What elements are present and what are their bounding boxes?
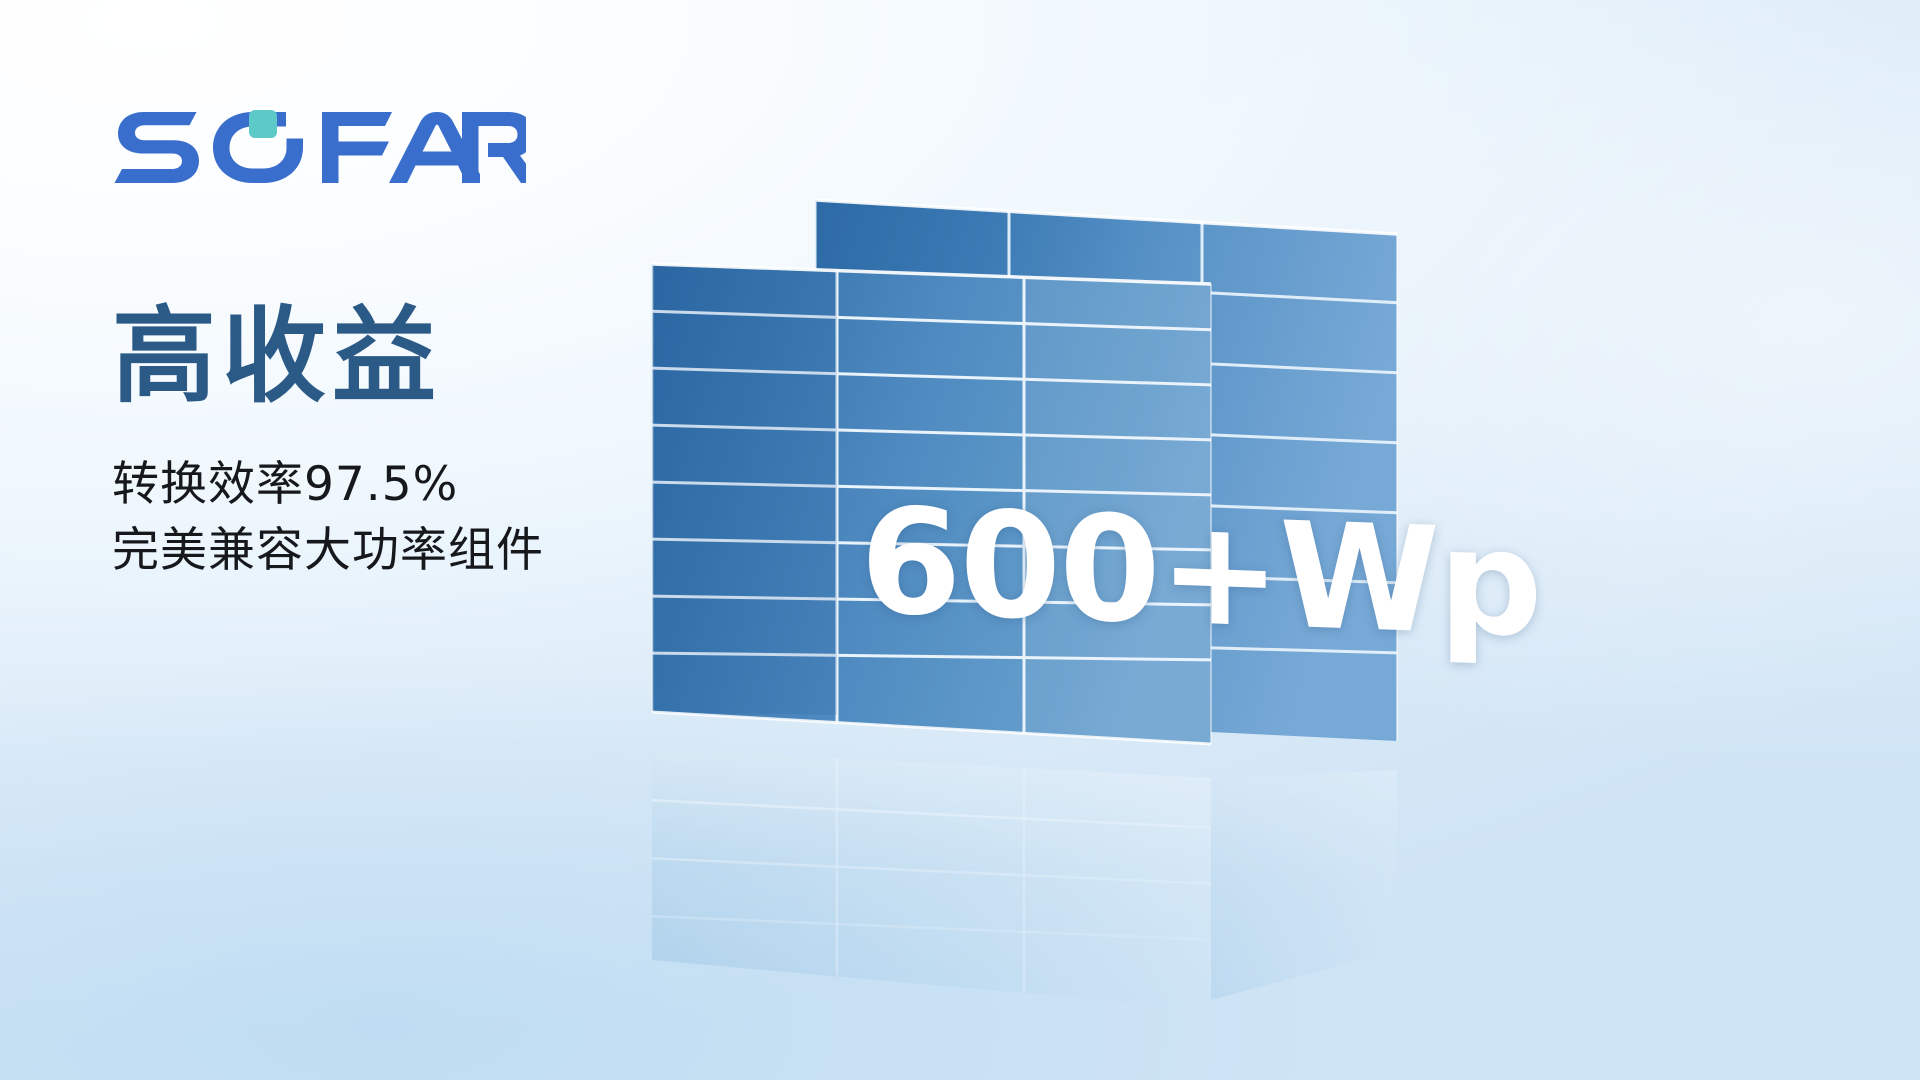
page-title: 高收益	[112, 300, 442, 412]
sofar-logo-letter-r	[456, 104, 526, 184]
sofar-logo-mark	[110, 104, 480, 184]
subtitle-line-2: 完美兼容大功率组件	[112, 518, 544, 584]
panel-reflection	[646, 748, 1217, 1010]
subtitle-line-1: 转换效率97.5%	[112, 452, 544, 518]
panel-reflection-back	[1211, 770, 1397, 1000]
panel-wattage-label: 600+Wp	[860, 488, 1541, 658]
poster-canvas: 600+Wp SOFAR 高收益 转	[0, 0, 1920, 1080]
subtitle-block: 转换效率97.5% 完美兼容大功率组件	[112, 452, 544, 584]
sofar-logo[interactable]: SOFAR	[110, 104, 480, 182]
teal-square-dot-icon	[249, 110, 277, 138]
